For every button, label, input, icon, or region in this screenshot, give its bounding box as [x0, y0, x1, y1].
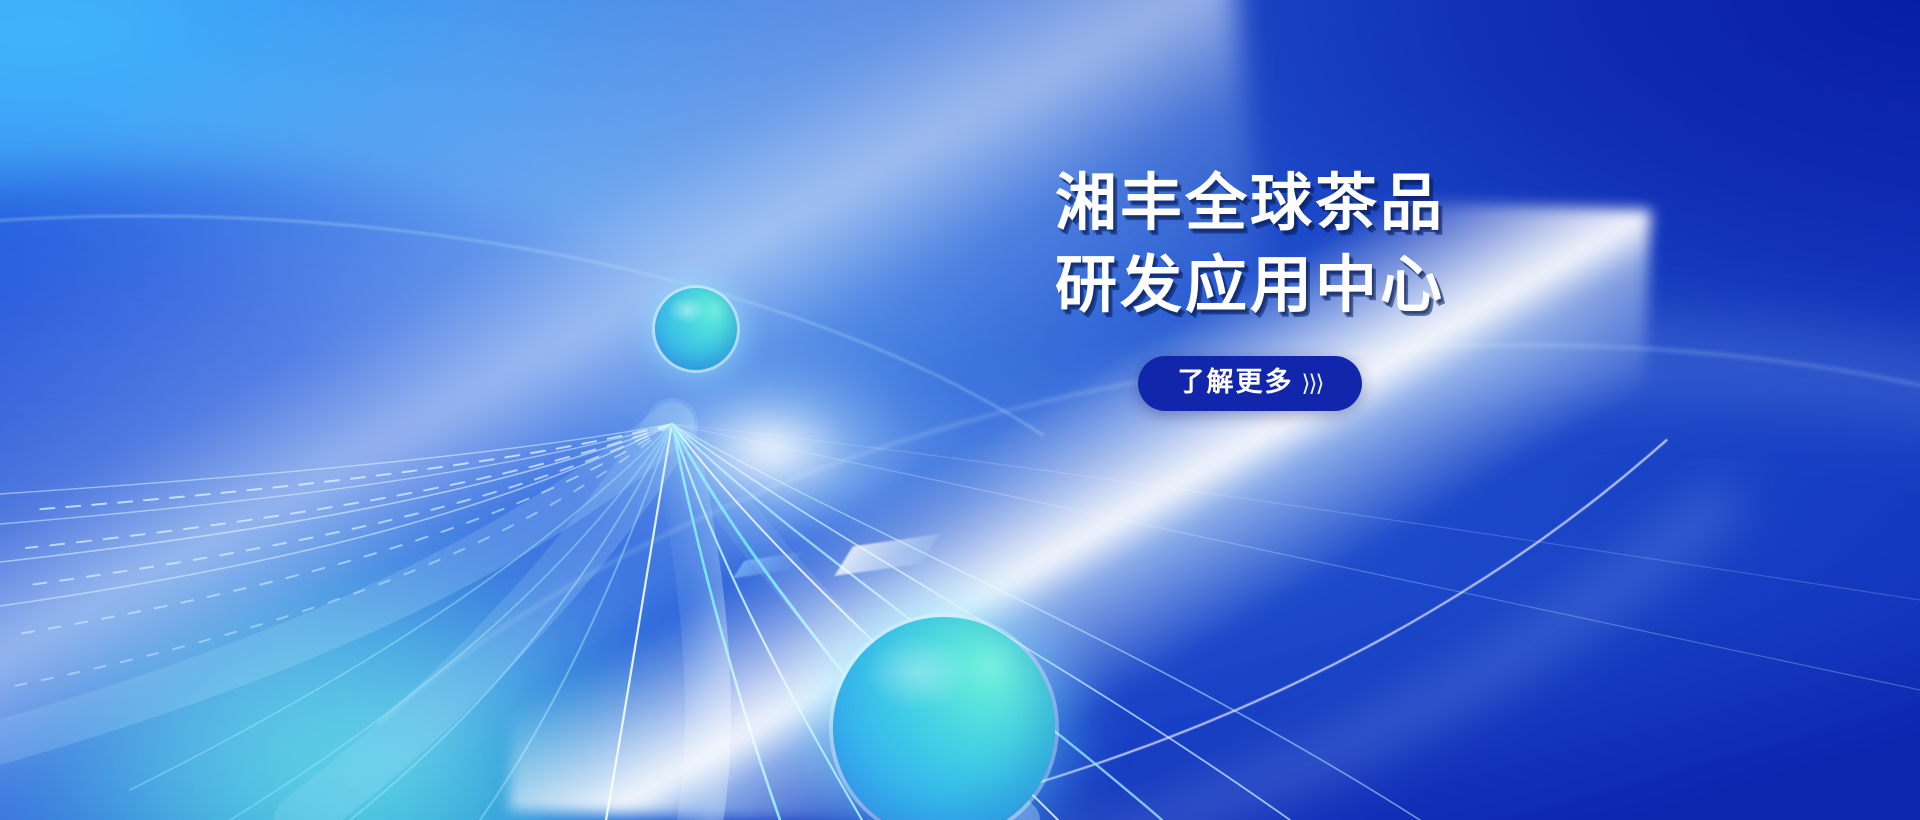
chevron-right-icon: ⟩⟩⟩: [1302, 370, 1323, 396]
hero-content: 湘丰全球茶品 研发应用中心 了解更多⟩⟩⟩: [990, 168, 1510, 411]
headline-line-2: 研发应用中心: [990, 250, 1510, 322]
hero-banner: 湘丰全球茶品 研发应用中心 了解更多⟩⟩⟩: [0, 0, 1920, 820]
learn-more-label: 了解更多: [1178, 367, 1294, 397]
small-gradient-sphere: [655, 288, 737, 370]
learn-more-button[interactable]: 了解更多⟩⟩⟩: [1138, 356, 1363, 411]
headline-line-1: 湘丰全球茶品: [990, 168, 1510, 240]
